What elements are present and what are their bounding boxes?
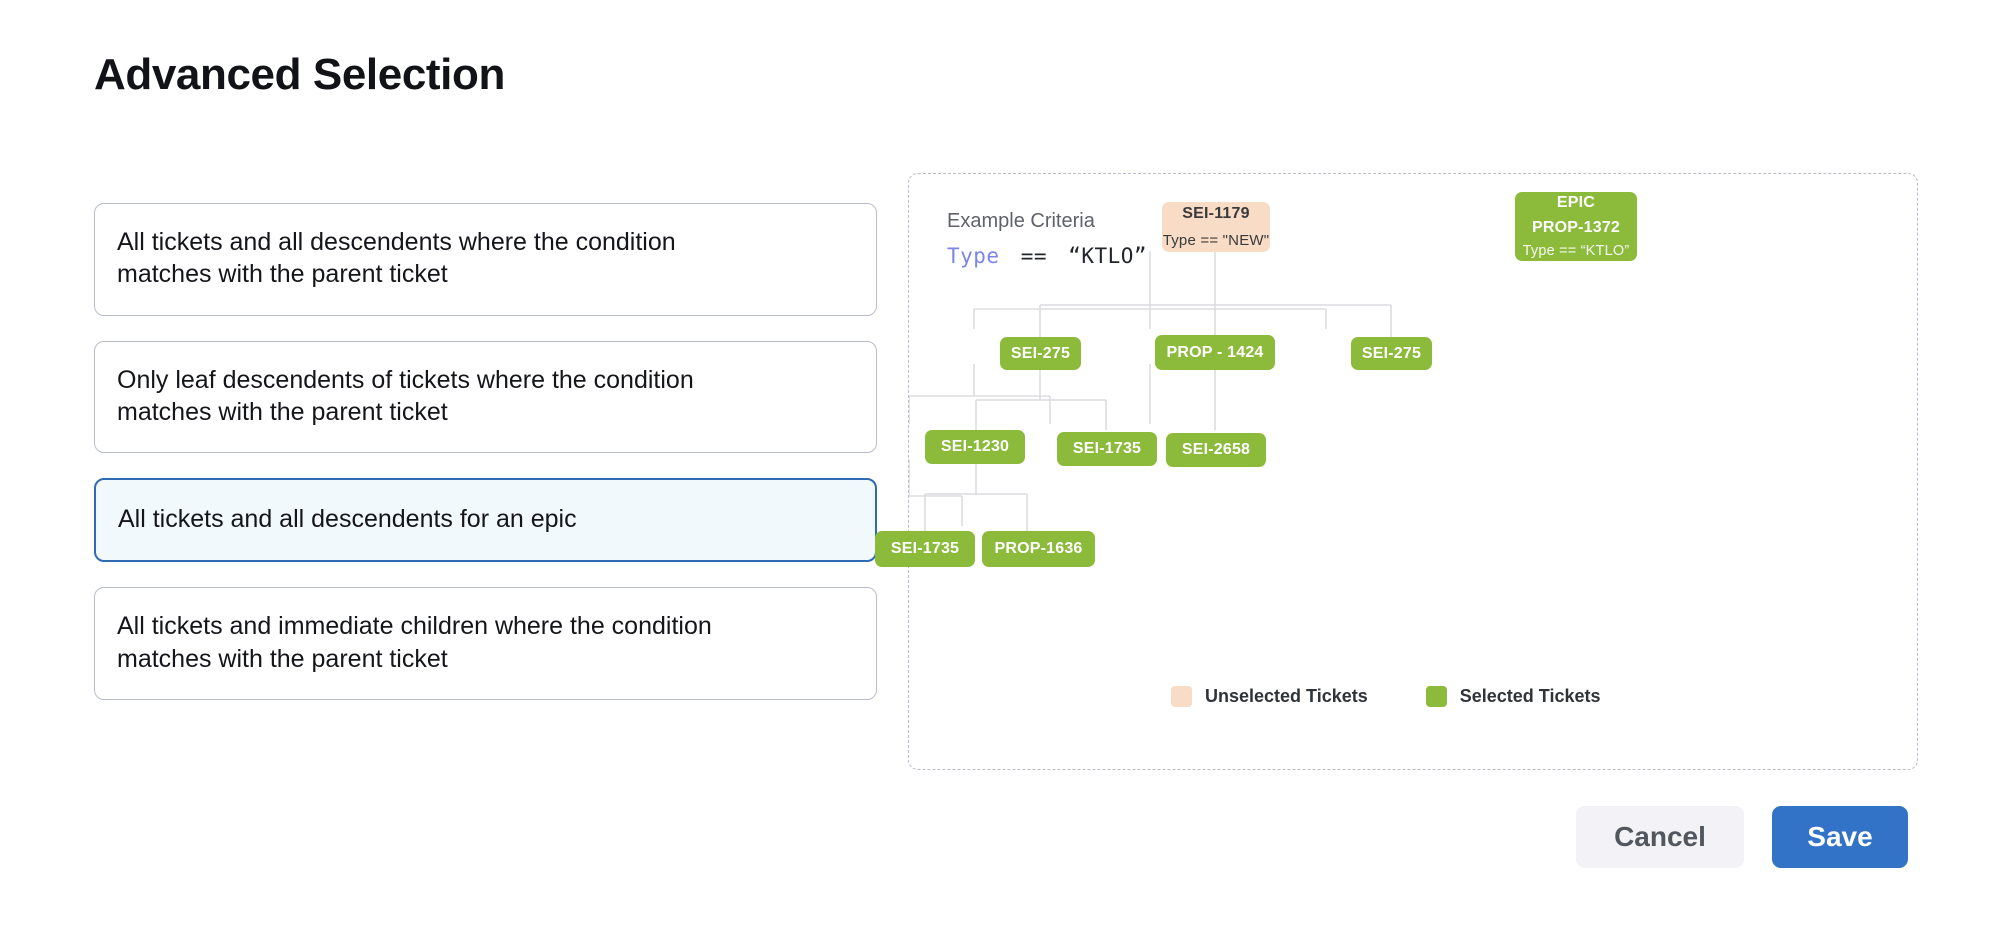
advanced-selection-dialog: Advanced Selection All tickets and all d… [0, 0, 1994, 936]
ticket-node-id: SEI-2658 [1182, 441, 1250, 459]
selection-options-list: All tickets and all descendents where th… [94, 203, 877, 725]
tree-connectors-main [909, 174, 1919, 771]
ticket-node-sei-1735-b[interactable]: SEI-1735 [875, 531, 975, 567]
ticket-tree-canvas: SEI-1179 Type == "NEW" EPIC PROP-1372 Ty… [909, 174, 1917, 769]
ticket-node-sei-1179[interactable]: SEI-1179 Type == "NEW" [1162, 202, 1270, 252]
ticket-node-prop-1636[interactable]: PROP-1636 [982, 531, 1095, 567]
example-diagram-panel: Example Criteria Type == “KTLO” [908, 173, 1918, 770]
option-label: All tickets and immediate children where… [117, 610, 777, 675]
unselected-swatch-icon [1171, 686, 1192, 707]
ticket-node-id: PROP - 1424 [1166, 344, 1263, 362]
dialog-footer: Cancel Save [0, 806, 1994, 896]
ticket-node-id: SEI-1230 [941, 438, 1009, 456]
page-title: Advanced Selection [94, 50, 505, 100]
legend-item-selected: Selected Tickets [1426, 686, 1601, 707]
ticket-node-prop-1424[interactable]: PROP - 1424 [1155, 335, 1275, 370]
legend-item-unselected: Unselected Tickets [1171, 686, 1368, 707]
ticket-node-id: SEI-1735 [1073, 440, 1141, 458]
option-card-immediate-children[interactable]: All tickets and immediate children where… [94, 587, 877, 700]
legend-label: Selected Tickets [1460, 686, 1601, 707]
ticket-node-id: SEI-275 [1362, 345, 1421, 363]
diagram-legend: Unselected Tickets Selected Tickets [1171, 686, 1601, 707]
ticket-node-id: SEI-1735 [891, 540, 959, 558]
ticket-node-epic-prop-1372[interactable]: EPIC PROP-1372 Type == “KTLO” [1515, 192, 1637, 261]
ticket-node-id: PROP-1372 [1532, 219, 1620, 237]
option-card-all-descendents[interactable]: All tickets and all descendents where th… [94, 203, 877, 316]
ticket-node-id: PROP-1636 [994, 540, 1082, 558]
ticket-node-sei-275-a[interactable]: SEI-275 [1000, 337, 1081, 370]
ticket-node-sei-1230[interactable]: SEI-1230 [925, 430, 1025, 464]
ticket-node-meta: Type == “KTLO” [1523, 243, 1630, 259]
option-label: All tickets and all descendents for an e… [118, 503, 778, 535]
ticket-node-kind: EPIC [1557, 194, 1595, 212]
selected-swatch-icon [1426, 686, 1447, 707]
ticket-node-sei-275-b[interactable]: SEI-275 [1351, 337, 1432, 370]
save-button[interactable]: Save [1772, 806, 1908, 868]
option-card-leaf-descendents[interactable]: Only leaf descendents of tickets where t… [94, 341, 877, 454]
ticket-node-meta: Type == "NEW" [1163, 232, 1270, 249]
ticket-node-id: SEI-275 [1011, 345, 1070, 363]
ticket-node-sei-2658[interactable]: SEI-2658 [1166, 433, 1266, 467]
option-card-epic-descendents[interactable]: All tickets and all descendents for an e… [94, 478, 877, 562]
legend-label: Unselected Tickets [1205, 686, 1368, 707]
option-label: Only leaf descendents of tickets where t… [117, 364, 777, 429]
ticket-node-id: SEI-1179 [1182, 205, 1249, 223]
ticket-node-sei-1735-a[interactable]: SEI-1735 [1057, 432, 1157, 466]
option-label: All tickets and all descendents where th… [117, 226, 777, 291]
cancel-button[interactable]: Cancel [1576, 806, 1744, 868]
